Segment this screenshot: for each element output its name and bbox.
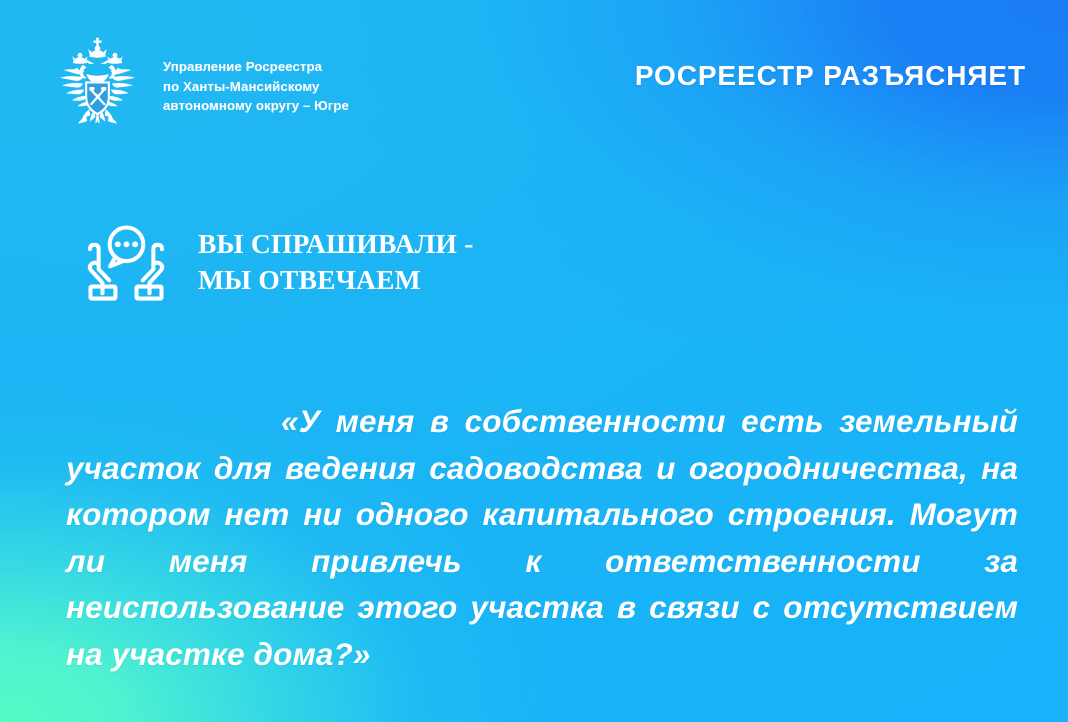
rosreestr-double-headed-eagle-emblem bbox=[46, 34, 149, 137]
logo-line-3: автономному округу – Югре bbox=[163, 97, 349, 114]
hands-holding-speech-bubble-icon bbox=[78, 216, 174, 312]
organization-logo-block: Управление Росреестра по Ханты-Мансийско… bbox=[46, 34, 349, 137]
organization-logo-text: Управление Росреестра по Ханты-Мансийско… bbox=[163, 56, 349, 114]
logo-line-2: по Ханты-Мансийскому bbox=[163, 78, 349, 95]
qa-heading-row: ВЫ СПРАШИВАЛИ - МЫ ОТВЕЧАЕМ bbox=[78, 216, 474, 312]
logo-line-1: Управление Росреестра bbox=[163, 58, 349, 75]
header-title: РОСРЕЕСТР РАЗЪЯСНЯЕТ bbox=[635, 59, 1026, 93]
question-quote-text: «У меня в собственности есть земельный у… bbox=[66, 398, 1018, 677]
qa-heading-text: ВЫ СПРАШИВАЛИ - МЫ ОТВЕЧАЕМ bbox=[198, 226, 474, 302]
question-quote-content: «У меня в собственности есть земельный у… bbox=[66, 403, 1018, 672]
infographic-card: Управление Росреестра по Ханты-Мансийско… bbox=[0, 0, 1068, 722]
qa-heading-line-2: МЫ ОТВЕЧАЕМ bbox=[198, 262, 474, 298]
qa-heading-line-1: ВЫ СПРАШИВАЛИ - bbox=[198, 226, 474, 262]
